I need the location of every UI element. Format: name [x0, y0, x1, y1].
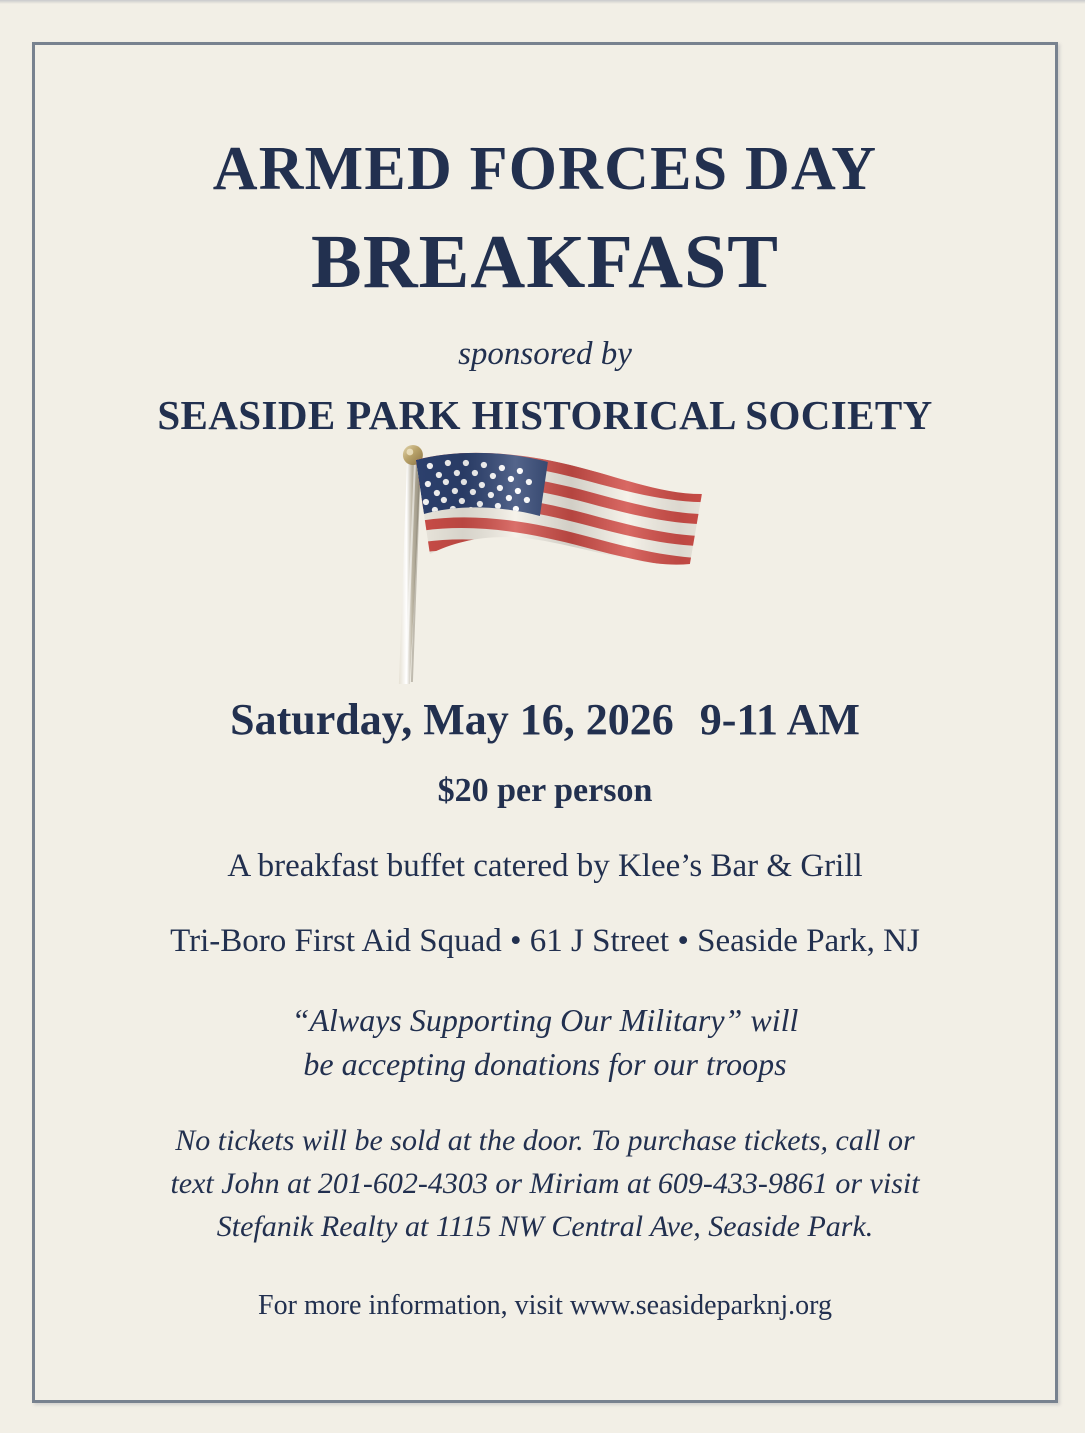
event-time: 9-11 AM — [700, 695, 860, 744]
event-date-time: Saturday, May 16, 20269-11 AM — [66, 690, 1024, 742]
page-top-edge-strip — [0, 0, 1085, 4]
catering-line: A breakfast buffet catered by Klee’s Bar… — [66, 808, 1024, 883]
flyer-content: ARMED FORCES DAY BREAKFAST sponsored by … — [32, 42, 1058, 1403]
ticket-info-line-1: No tickets will be sold at the door. To … — [175, 1124, 914, 1157]
sponsored-by-label: sponsored by — [66, 300, 1024, 371]
flag-illustration-container — [66, 442, 1024, 690]
flag-stripes — [390, 442, 720, 690]
page-title-armed-forces-day: ARMED FORCES DAY — [66, 42, 1024, 200]
organization-name: SEASIDE PARK HISTORICAL SOCIETY — [66, 371, 1024, 436]
page-title-breakfast: BREAKFAST — [66, 200, 1024, 300]
ticket-info-line-2: text John at 201-602-4303 or Miriam at 6… — [170, 1167, 919, 1200]
donations-note: “Always Supporting Our Military” will be… — [66, 958, 1024, 1086]
more-information-website: For more information, visit www.seasidep… — [66, 1248, 1024, 1320]
venue-address-line: Tri-Boro First Aid Squad • 61 J Street •… — [66, 883, 1024, 958]
donations-note-line-2: be accepting donations for our troops — [303, 1046, 786, 1082]
event-price: $20 per person — [66, 742, 1024, 808]
event-date: Saturday, May 16, 2026 — [230, 695, 674, 744]
ticket-purchase-info: No tickets will be sold at the door. To … — [66, 1086, 1024, 1248]
donations-note-line-1: “Always Supporting Our Military” will — [292, 1002, 799, 1038]
ticket-info-line-3: Stefanik Realty at 1115 NW Central Ave, … — [217, 1210, 874, 1243]
flyer-page: ARMED FORCES DAY BREAKFAST sponsored by … — [0, 0, 1085, 1433]
american-flag-icon — [390, 442, 720, 690]
